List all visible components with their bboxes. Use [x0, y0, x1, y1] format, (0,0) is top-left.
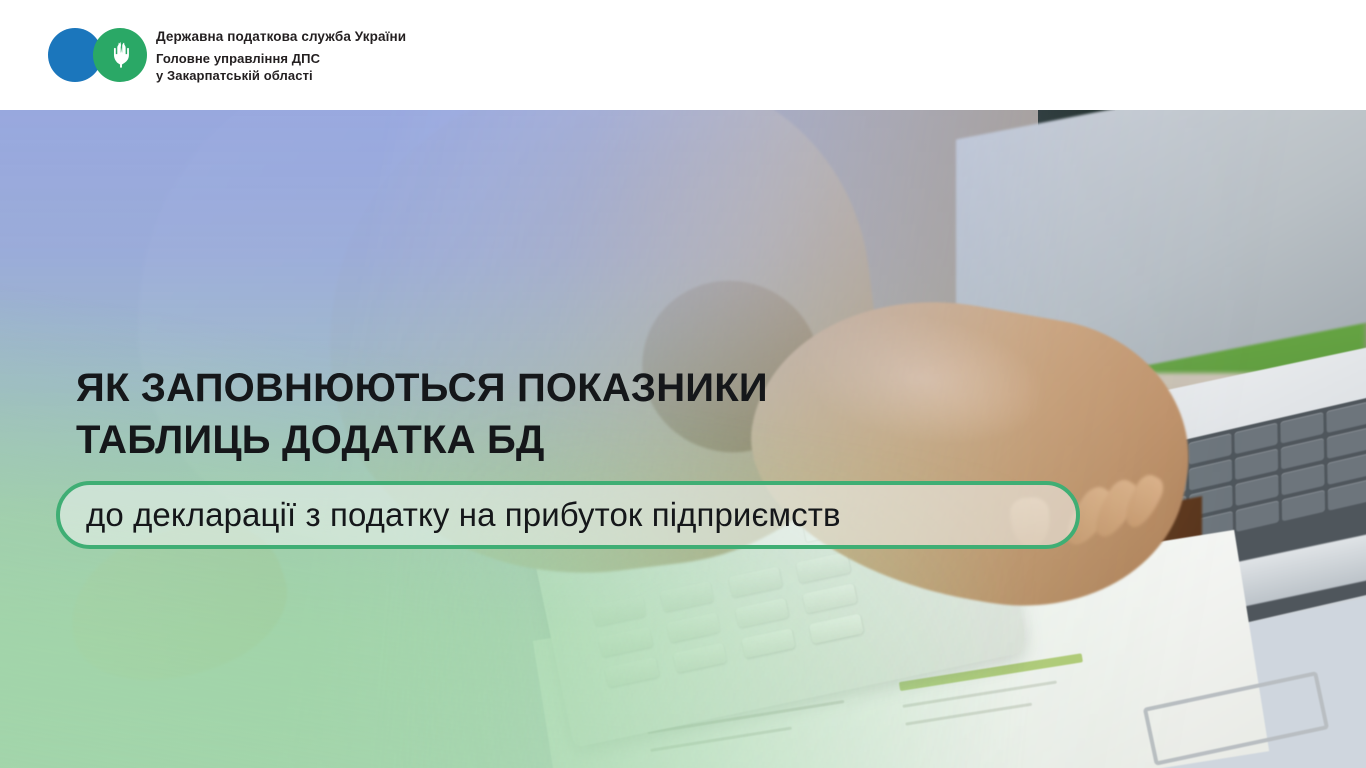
- org-title-block: Державна податкова служба України Головн…: [156, 27, 406, 84]
- green-circle-icon: [93, 28, 147, 82]
- org-name-national: Державна податкова служба України: [156, 27, 406, 47]
- subtitle-pill: до декларації з податку на прибуток підп…: [56, 481, 1080, 549]
- org-name-department: Головне управління ДПС: [156, 50, 406, 67]
- banner-page: Державна податкова служба України Головн…: [0, 0, 1366, 768]
- headline-line-2: ТАБЛИЦЬ ДОДАТКА БД: [76, 414, 936, 466]
- ukraine-trident-icon: [109, 41, 131, 69]
- hero-text-block: ЯК ЗАПОВНЮЮТЬСЯ ПОКАЗНИКИ ТАБЛИЦЬ ДОДАТК…: [0, 110, 1366, 768]
- org-name-region: у Закарпатській області: [156, 67, 406, 84]
- hero-banner: ЯК ЗАПОВНЮЮТЬСЯ ПОКАЗНИКИ ТАБЛИЦЬ ДОДАТК…: [0, 110, 1366, 768]
- dps-logo[interactable]: [48, 28, 148, 82]
- headline-line-1: ЯК ЗАПОВНЮЮТЬСЯ ПОКАЗНИКИ: [76, 362, 936, 414]
- site-header: Державна податкова служба України Головн…: [0, 0, 1366, 110]
- page-subtitle: до декларації з податку на прибуток підп…: [86, 495, 841, 535]
- page-title: ЯК ЗАПОВНЮЮТЬСЯ ПОКАЗНИКИ ТАБЛИЦЬ ДОДАТК…: [76, 362, 936, 466]
